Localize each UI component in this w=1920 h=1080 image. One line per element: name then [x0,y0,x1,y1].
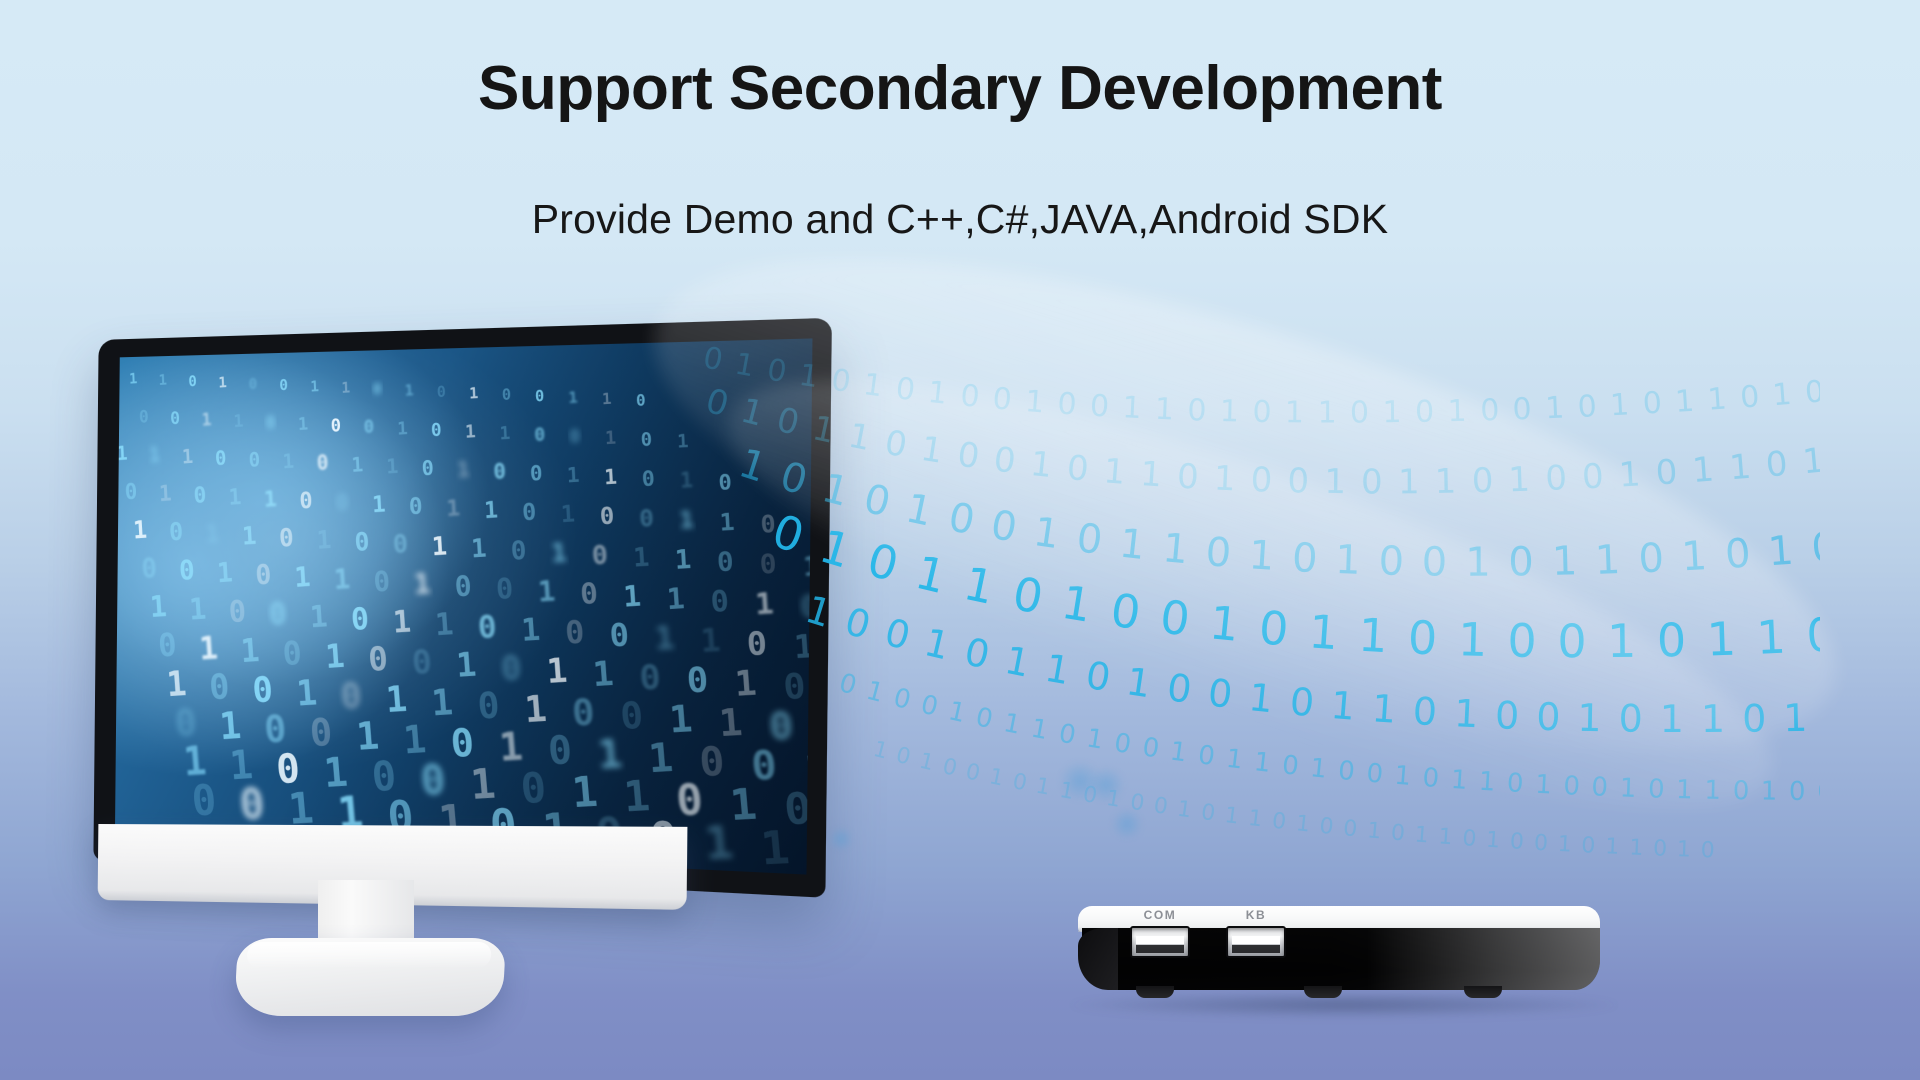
monitor-stand-foot [234,938,506,1016]
card-reader-device: COM KB [1078,906,1600,998]
stream-dot-b [1086,768,1126,802]
svg-text:100101101001011010010110100101: 1001011010010110100101101001011 [700,330,1820,741]
desktop-monitor: 0110100110101001101001101001011001011110… [96,340,776,860]
device-foot-left [1136,986,1174,998]
device-left-edge [1078,928,1118,990]
device-foot-center [1304,986,1342,998]
device-foot-right [1464,986,1502,998]
stream-dot-d [828,828,854,850]
svg-text:1: 1 [115,405,118,425]
stream-dot-c [1110,810,1144,838]
svg-text:101010010110101001011010100101: 1010100101101010010110101001011010 [700,330,1820,586]
screen-vignette [115,338,813,874]
svg-text:010110100101101001011010010110: 01011010010110100101101001011010010 [700,330,1820,502]
svg-text:101001011010010110100101101001: 101001011010010110100101101001011010 [871,737,1725,864]
usb-port-com[interactable] [1130,926,1190,958]
monitor-screen: 0110100110101001101001101001011001011110… [115,338,813,874]
monitor-bezel: 0110100110101001101001101001011001011110… [93,318,832,898]
svg-text:010110100101101001011010010110: 010110100101101001011010010110100 [700,330,1820,668]
page-subtitle: Provide Demo and C++,C#,JAVA,Android SDK [0,196,1920,243]
port-label-kb: KB [1224,908,1288,922]
port-label-com: COM [1128,908,1192,922]
svg-text:010010110100101101001011010010: 0100101101001011010010110100101101001 [700,330,1820,807]
svg-text:101010101001001101011010100101: 1010101010010011010110101001010110101 [700,330,1820,431]
binary-data-stream: 1010101010010011010110101001010110101010… [700,330,1820,890]
usb-port-kb[interactable] [1226,926,1286,958]
page-title: Support Secondary Development [0,56,1920,121]
light-band-lower [689,298,1810,893]
